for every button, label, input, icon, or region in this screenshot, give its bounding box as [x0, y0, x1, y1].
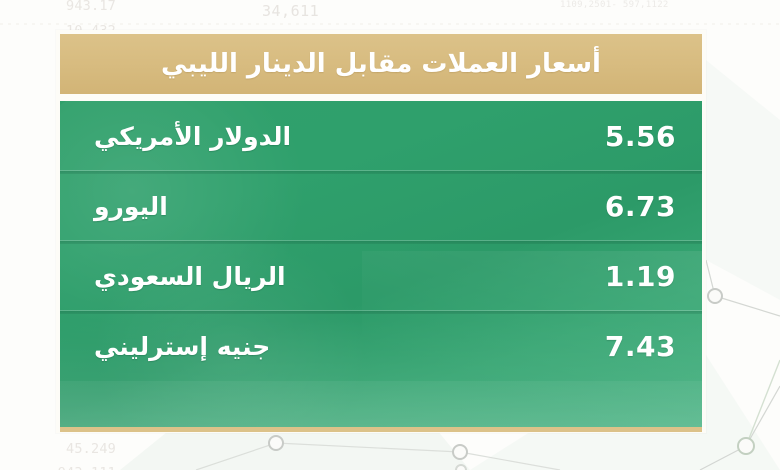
list-item: 6.73 اليورو — [60, 171, 702, 241]
list-item: 1.19 الريال السعودي — [60, 241, 702, 311]
currency-name: جنيه إسترليني — [94, 332, 270, 361]
row-separator — [60, 171, 702, 174]
background-top-right-number: 597,1122 -1109,2501 — [560, 0, 669, 11]
rate-value: 6.73 — [605, 190, 676, 223]
panel-footer-band — [60, 381, 702, 429]
list-item: 5.56 الدولار الأمريكي — [60, 101, 702, 171]
list-item: 7.43 جنيه إسترليني — [60, 311, 702, 381]
card-header: أسعار العملات مقابل الدينار الليبي — [60, 34, 702, 94]
page-title: أسعار العملات مقابل الدينار الليبي — [161, 49, 601, 79]
background-top-number: 34,611 — [262, 2, 319, 20]
currency-name: الدولار الأمريكي — [94, 122, 291, 151]
currency-name: اليورو — [94, 192, 168, 221]
rates-list: 5.56 الدولار الأمريكي 6.73 اليورو 1.19 ا… — [60, 101, 702, 429]
card-bottom-accent-bar — [60, 427, 702, 432]
row-separator — [60, 311, 702, 314]
rate-value: 5.56 — [605, 120, 676, 153]
currency-rates-card: أسعار العملات مقابل الدينار الليبي 5.56 … — [56, 30, 706, 433]
rate-value: 7.43 — [605, 330, 676, 363]
screenshot-canvas: 943.17 10.432 543.133 960.194 43.156 806… — [0, 0, 780, 470]
rate-value: 1.19 — [605, 260, 676, 293]
row-separator — [60, 241, 702, 244]
rates-panel: 5.56 الدولار الأمريكي 6.73 اليورو 1.19 ا… — [60, 101, 702, 429]
currency-name: الريال السعودي — [94, 262, 286, 291]
